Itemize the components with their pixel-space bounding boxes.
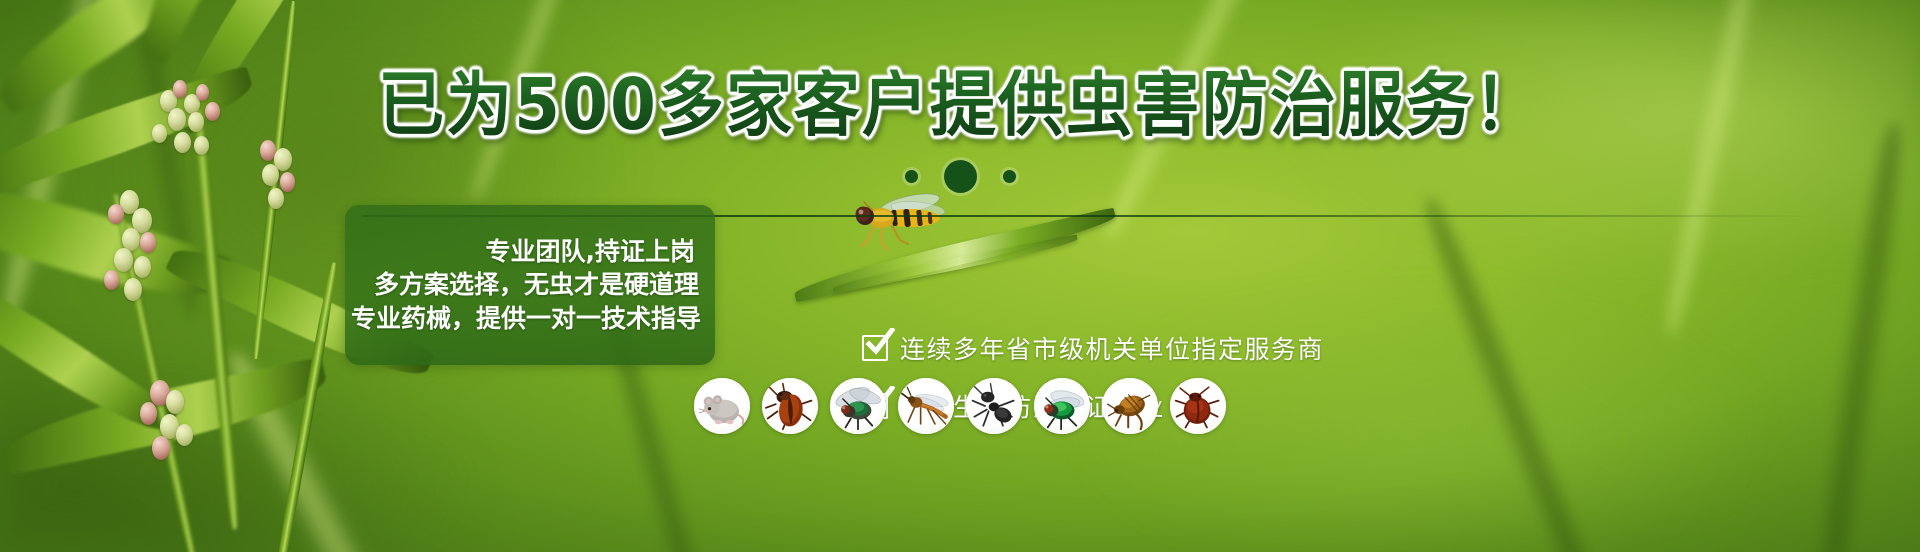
cockroach-icon <box>762 378 818 434</box>
mosquito-icon <box>898 378 954 434</box>
large-dot-icon <box>944 160 977 193</box>
selling-point-line-3: 专业药械，提供一对一技术指导 <box>345 302 701 336</box>
hoverfly-scene <box>790 190 1120 320</box>
banner-headline-container: 已为500多家客户提供虫害防治服务！ <box>0 72 1920 138</box>
green-fly-icon <box>1034 378 1090 434</box>
small-dot-icon <box>905 170 918 183</box>
flea-icon <box>1102 378 1158 434</box>
pest-type-icon-row <box>0 378 1920 434</box>
housefly-icon <box>830 378 886 434</box>
mouse-icon <box>694 378 750 434</box>
checkbox-check-icon <box>862 335 888 361</box>
selling-point-line-1: 专业团队,持证上岗 <box>345 235 701 269</box>
pest-control-banner: 已为500多家客户提供虫害防治服务！ 专业团队,持证上岗 多方案选择，无虫才是硬… <box>0 0 1920 552</box>
small-dot-icon <box>1003 170 1016 183</box>
decorative-dots <box>0 160 1920 193</box>
page-title: 已为500多家客户提供虫害防治服务！ <box>378 69 1542 140</box>
hoverfly-icon <box>848 188 968 258</box>
credential-label: 连续多年省市级机关单位指定服务商 <box>900 330 1324 366</box>
selling-point-line-2: 多方案选择，无虫才是硬道理 <box>345 268 701 302</box>
selling-points-panel: 专业团队,持证上岗 多方案选择，无虫才是硬道理 专业药械，提供一对一技术指导 <box>345 205 715 365</box>
ant-icon <box>966 378 1022 434</box>
list-item: 连续多年省市级机关单位指定服务商 <box>862 330 1324 366</box>
bedbug-icon <box>1170 378 1226 434</box>
